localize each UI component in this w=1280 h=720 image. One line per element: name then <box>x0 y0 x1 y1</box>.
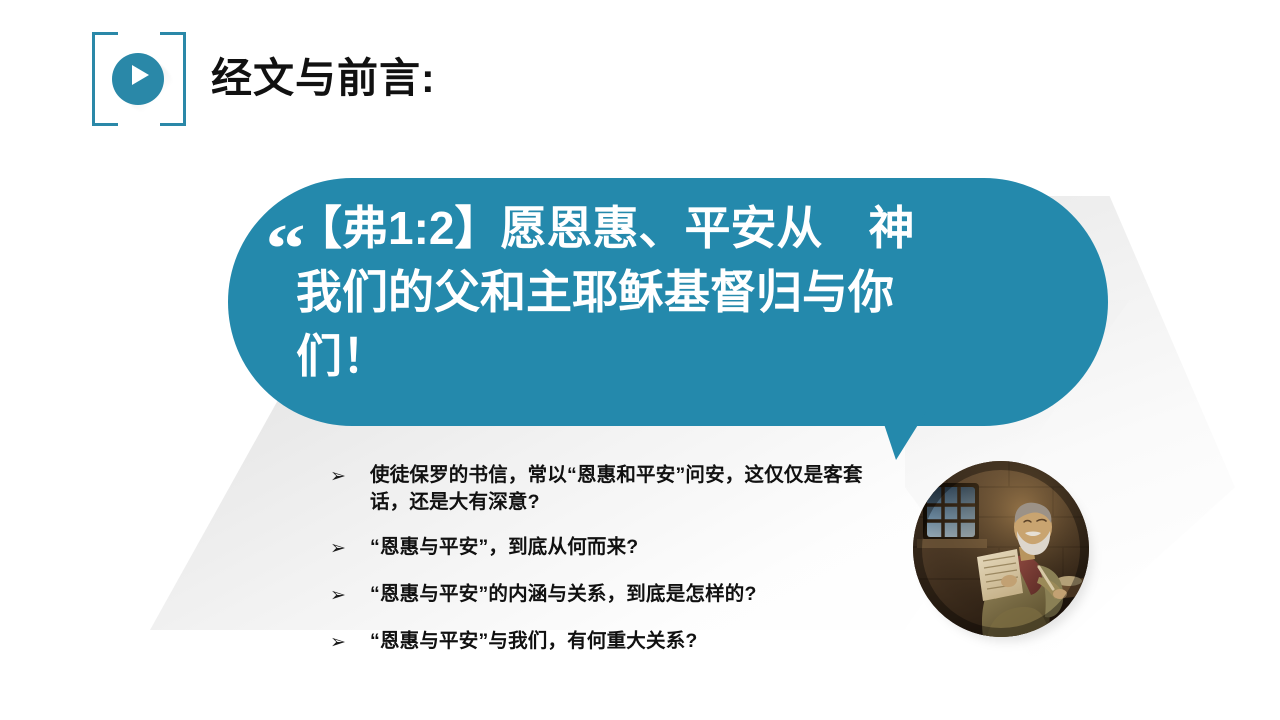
bullet-arrow-icon: ➢ <box>330 534 370 563</box>
play-button-in-frame-icon <box>92 32 186 126</box>
list-item-label: “恩惠与平安”，到底从何而来? <box>370 534 890 561</box>
play-triangle-icon <box>132 65 149 85</box>
icon-frame-notch-bottom <box>118 122 160 128</box>
icon-frame-notch-top <box>118 30 160 36</box>
slide-canvas: 经文与前言: “ 【弗1:2】愿恩惠、平安从 神 我们的父和主耶稣基督归与你 们… <box>0 0 1280 720</box>
list-item-label: “恩惠与平安”的内涵与关系，到底是怎样的? <box>370 581 890 608</box>
bullet-list: ➢ 使徒保罗的书信，常以“恩惠和平安”问安，这仅仅是客套话，还是大有深意? ➢ … <box>330 462 890 675</box>
apostle-paul-photo <box>913 461 1089 637</box>
list-item: ➢ “恩惠与平安”的内涵与关系，到底是怎样的? <box>330 581 890 610</box>
quote-bubble-tail <box>880 412 926 460</box>
quote-line-3: 们！ <box>296 324 1086 388</box>
list-item: ➢ “恩惠与平安”，到底从何而来? <box>330 534 890 563</box>
page-title: 经文与前言: <box>211 50 436 106</box>
list-item: ➢ “恩惠与平安”与我们，有何重大关系? <box>330 628 890 657</box>
list-item: ➢ 使徒保罗的书信，常以“恩惠和平安”问安，这仅仅是客套话，还是大有深意? <box>330 462 890 516</box>
apostle-paul-illustration <box>913 461 1089 637</box>
bullet-arrow-icon: ➢ <box>330 581 370 610</box>
quote-line-1: 【弗1:2】愿恩惠、平安从 神 <box>296 196 1086 260</box>
list-item-label: 使徒保罗的书信，常以“恩惠和平安”问安，这仅仅是客套话，还是大有深意? <box>370 462 890 516</box>
bullet-arrow-icon: ➢ <box>330 628 370 657</box>
bullet-arrow-icon: ➢ <box>330 462 370 491</box>
list-item-label: “恩惠与平安”与我们，有何重大关系? <box>370 628 890 655</box>
quote-line-2: 我们的父和主耶稣基督归与你 <box>296 260 1086 324</box>
quote-text: 【弗1:2】愿恩惠、平安从 神 我们的父和主耶稣基督归与你 们！ <box>296 196 1086 388</box>
